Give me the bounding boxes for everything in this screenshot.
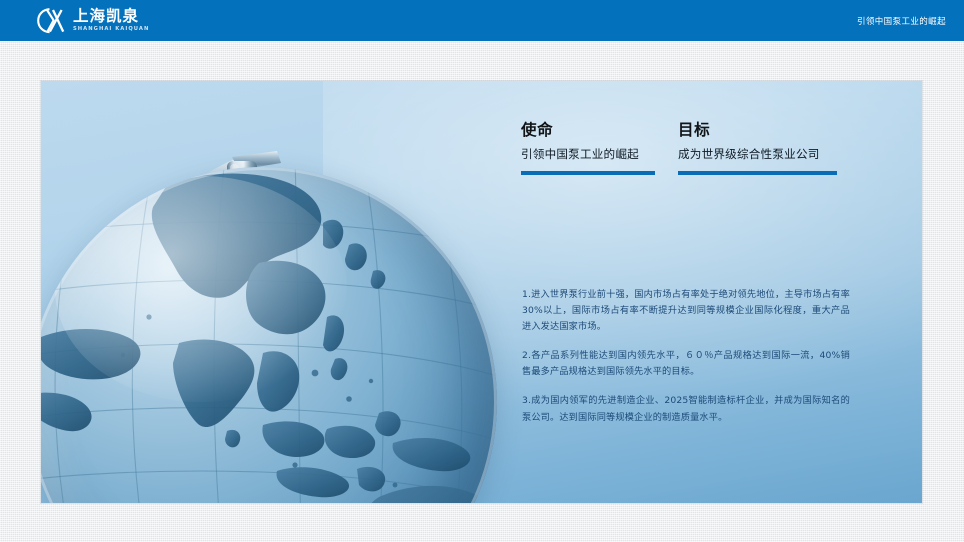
world-globe-photo <box>41 167 527 503</box>
brand-name-en: SHANGHAI KAIQUAN <box>73 27 149 32</box>
mission-title: 使命 <box>521 121 669 140</box>
paragraph-3: 3.成为国内领军的先进制造企业、2025智能制造标杆企业，并成为国际知名的泵公司… <box>522 393 850 425</box>
goal-underline <box>678 171 837 175</box>
goal-subtitle: 成为世界级综合性泵业公司 <box>678 146 850 162</box>
body-paragraphs: 1.进入世界泵行业前十强，国内市场占有率处于绝对领先地位，主导市场占有率30%以… <box>522 287 850 426</box>
globe-sphere <box>41 167 497 503</box>
app-header-bar: 上海凯泉 SHANGHAI KAIQUAN 引领中国泵工业的崛起 <box>0 0 964 41</box>
header-tagline: 引领中国泵工业的崛起 <box>857 0 946 41</box>
mission-underline <box>521 171 655 175</box>
brand-name-cn: 上海凯泉 <box>73 9 149 25</box>
goal-title: 目标 <box>678 121 850 140</box>
paragraph-1: 1.进入世界泵行业前十强，国内市场占有率处于绝对领先地位，主导市场占有率30%以… <box>522 287 850 335</box>
headings-row: 使命 引领中国泵工业的崛起 目标 成为世界级综合性泵业公司 <box>521 121 881 223</box>
slide-canvas: 使命 引领中国泵工业的崛起 目标 成为世界级综合性泵业公司 1.进入世界泵行业前… <box>41 81 922 503</box>
goal-block: 目标 成为世界级综合性泵业公司 <box>678 121 850 175</box>
mission-block: 使命 引领中国泵工业的崛起 <box>521 121 669 175</box>
paragraph-2: 2.各产品系列性能达到国内领先水平，６０％产品规格达到国际一流，40%销售最多产… <box>522 348 850 380</box>
brand-wordmark: 上海凯泉 SHANGHAI KAIQUAN <box>73 9 149 32</box>
slide-text-content: 使命 引领中国泵工业的崛起 目标 成为世界级综合性泵业公司 1.进入世界泵行业前… <box>521 121 881 223</box>
kaiquan-monogram-icon <box>36 7 66 35</box>
brand-logo[interactable]: 上海凯泉 SHANGHAI KAIQUAN <box>36 5 149 36</box>
mission-subtitle: 引领中国泵工业的崛起 <box>521 146 669 162</box>
